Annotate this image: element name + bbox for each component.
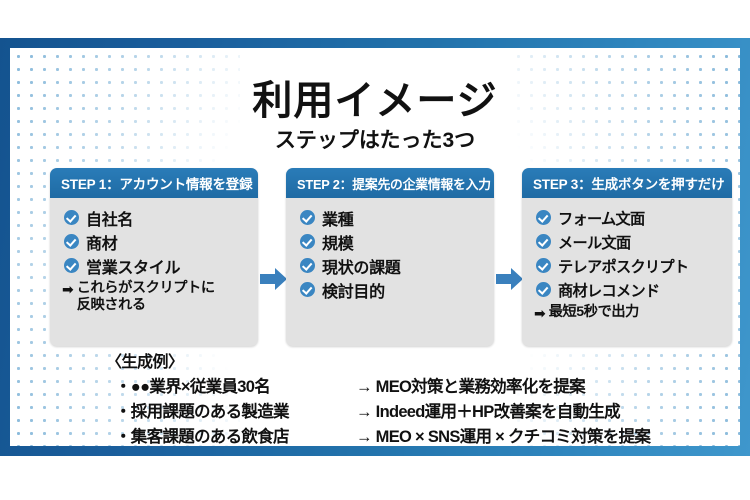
step-1-body: 自社名 商材 営業スタイル ➡ これらがスクリプトに 反映される xyxy=(50,198,258,313)
examples-section: 〈生成例〉 ・●●業界×従業員30名 → MEO対策と業務効率化を提案 ・採用課… xyxy=(106,348,650,446)
check-circle-icon xyxy=(536,258,551,273)
step-3-note: ➡ 最短5秒で出力 xyxy=(534,304,732,322)
step-card-2: STEP 2：提案先の企業情報を入力 業種 規模 現状の課題 検討目的 xyxy=(286,168,494,346)
list-item-label: 商材レコメンド xyxy=(558,279,659,301)
list-item: 営業スタイル xyxy=(64,254,258,277)
check-circle-icon xyxy=(536,234,551,249)
step-card-1: STEP 1：アカウント情報を登録 自社名 商材 営業スタイル ➡ これらがスク… xyxy=(50,168,258,346)
example-row: ・集客課題のある飲食店 → MEO × SNS運用 × クチコミ対策を提案 xyxy=(106,423,650,446)
check-circle-icon xyxy=(300,234,315,249)
list-item-label: 検討目的 xyxy=(322,278,385,302)
check-circle-icon xyxy=(300,282,315,297)
example-input: ・●●業界×従業員30名 xyxy=(106,373,356,397)
arrow-right-icon: ➡ xyxy=(62,280,74,298)
check-circle-icon xyxy=(64,210,79,225)
list-item: 商材 xyxy=(64,230,258,253)
example-output: → Indeed運用＋HP改善案を自動生成 xyxy=(356,398,620,422)
arrow-right-icon: ➡ xyxy=(534,304,546,322)
list-item: 自社名 xyxy=(64,206,258,229)
slide-canvas: 利用イメージ ステップはたった3つ STEP 1：アカウント情報を登録 自社名 … xyxy=(10,48,740,446)
list-item-label: 営業スタイル xyxy=(86,254,180,278)
list-item-label: テレアポスクリプト xyxy=(558,255,688,277)
slide-frame: 利用イメージ ステップはたった3つ STEP 1：アカウント情報を登録 自社名 … xyxy=(0,38,750,456)
step-1-note: ➡ これらがスクリプトに 反映される xyxy=(62,280,258,313)
step-card-3: STEP 3：生成ボタンを押すだけ フォーム文面 メール文面 テレアポスクリプト… xyxy=(522,168,732,346)
step-3-header: STEP 3：生成ボタンを押すだけ xyxy=(522,168,732,198)
step-2-header: STEP 2：提案先の企業情報を入力 xyxy=(286,168,494,198)
arrow-right-icon xyxy=(260,266,288,292)
check-circle-icon xyxy=(536,210,551,225)
arrow-step1-to-step2 xyxy=(260,266,288,292)
list-item-label: 規模 xyxy=(322,230,353,254)
check-circle-icon xyxy=(300,258,315,273)
arrow-step2-to-step3 xyxy=(496,266,524,292)
list-item: 業種 xyxy=(300,206,494,229)
list-item-label: メール文面 xyxy=(558,231,630,253)
list-item-label: 現状の課題 xyxy=(322,254,401,278)
page-title: 利用イメージ xyxy=(10,68,740,126)
example-output: → MEO対策と業務効率化を提案 xyxy=(356,373,585,397)
list-item-label: 自社名 xyxy=(86,206,133,230)
list-item-label: フォーム文面 xyxy=(558,207,644,229)
list-item-label: 業種 xyxy=(322,206,353,230)
example-input: ・採用課題のある製造業 xyxy=(106,398,356,422)
list-item: メール文面 xyxy=(536,230,732,253)
list-item: 規模 xyxy=(300,230,494,253)
arrow-right-icon xyxy=(496,266,524,292)
step-1-header: STEP 1：アカウント情報を登録 xyxy=(50,168,258,198)
step-2-body: 業種 規模 現状の課題 検討目的 xyxy=(286,198,494,301)
page-subtitle: ステップはたった3つ xyxy=(10,124,740,154)
list-item: フォーム文面 xyxy=(536,206,732,229)
check-circle-icon xyxy=(64,234,79,249)
example-input: ・集客課題のある飲食店 xyxy=(106,423,356,446)
step-1-note-text: これらがスクリプトに 反映される xyxy=(77,280,215,313)
list-item: テレアポスクリプト xyxy=(536,254,732,277)
list-item-label: 商材 xyxy=(86,230,117,254)
step-3-note-text: 最短5秒で出力 xyxy=(549,304,639,321)
list-item: 商材レコメンド xyxy=(536,278,732,301)
list-item: 検討目的 xyxy=(300,278,494,301)
step-3-body: フォーム文面 メール文面 テレアポスクリプト 商材レコメンド ➡ 最短5秒で出力 xyxy=(522,198,732,322)
example-output: → MEO × SNS運用 × クチコミ対策を提案 xyxy=(356,423,650,446)
check-circle-icon xyxy=(300,210,315,225)
example-row: ・●●業界×従業員30名 → MEO対策と業務効率化を提案 xyxy=(106,373,650,397)
check-circle-icon xyxy=(536,282,551,297)
list-item: 現状の課題 xyxy=(300,254,494,277)
examples-title: 〈生成例〉 xyxy=(106,348,650,372)
check-circle-icon xyxy=(64,258,79,273)
example-row: ・採用課題のある製造業 → Indeed運用＋HP改善案を自動生成 xyxy=(106,398,650,422)
